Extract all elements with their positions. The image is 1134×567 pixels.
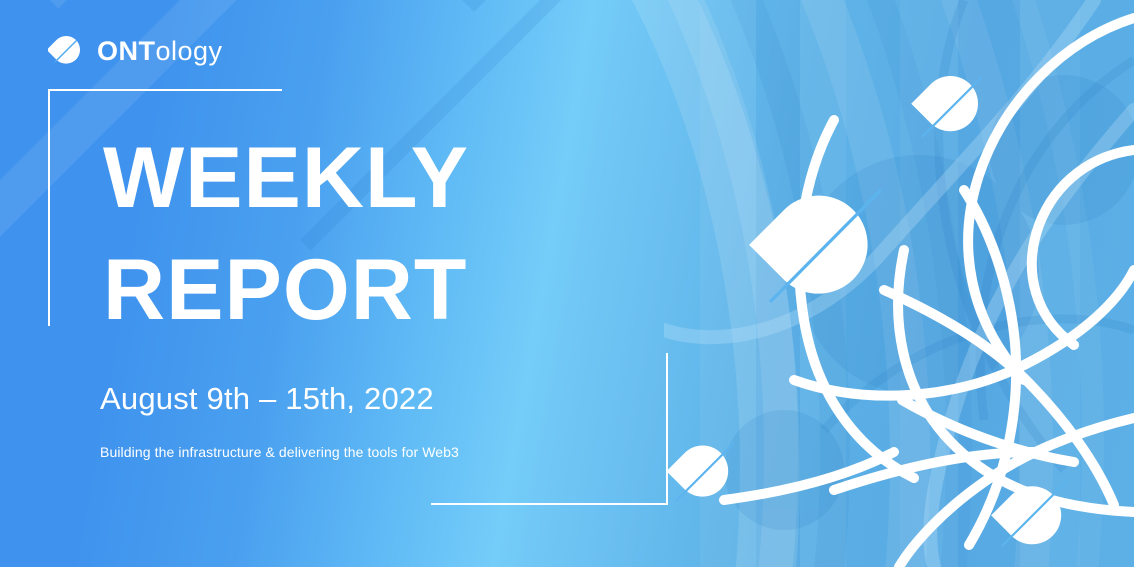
hero-title-line-1: WEEKLY (103, 136, 469, 220)
ontology-wordmark: ONTology (97, 38, 223, 65)
wordmark-light: ology (156, 36, 223, 66)
wordmark-bold: ONT (97, 36, 156, 66)
hero-date-range: August 9th – 15th, 2022 (100, 381, 434, 417)
top-left-bracket-vertical (48, 89, 50, 326)
hero-title-line-2: REPORT (103, 248, 469, 332)
weekly-report-banner: ONTology WEEKLY REPORT August 9th – 15th… (0, 0, 1134, 567)
bottom-right-bracket-horizontal (431, 503, 668, 505)
hero-title-block: WEEKLY REPORT (103, 136, 469, 333)
top-left-bracket-horizontal (48, 89, 282, 91)
hero-tagline: Building the infrastructure & delivering… (100, 444, 459, 460)
bottom-right-bracket-vertical (666, 353, 668, 505)
ontology-logo[interactable]: ONTology (48, 33, 223, 69)
ontology-leaf-icon (48, 33, 84, 69)
